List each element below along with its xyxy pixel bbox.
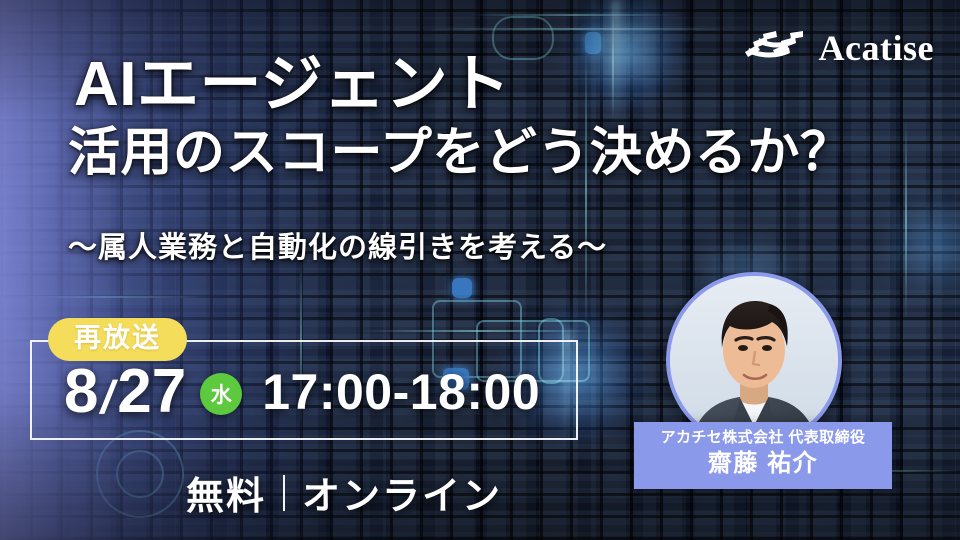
speaker-name: 齋藤 祐介	[644, 449, 882, 479]
speaker-name-plate: アカチセ株式会社 代表取締役 齋藤 祐介	[634, 422, 892, 489]
webinar-banner: Acatise AIエージェント 活用のスコープをどう決めるか？ 〜属人業務と自…	[0, 0, 960, 540]
headline-line-1: AIエージェント	[74, 52, 852, 119]
event-price: 無料	[186, 465, 266, 520]
subtitle: 〜属人業務と自動化の線引きを考える〜	[68, 224, 607, 266]
event-format: オンライン	[302, 465, 502, 520]
page-title: AIエージェント 活用のスコープをどう決めるか？	[74, 52, 852, 181]
schedule-day: 27	[117, 361, 186, 423]
headline-line-2: 活用のスコープをどう決めるか？	[68, 125, 852, 181]
schedule-month: 8	[64, 361, 98, 423]
schedule-time: 17:00-18:00	[262, 367, 540, 417]
event-info-separator	[283, 475, 285, 511]
speaker-title: アカチセ株式会社 代表取締役	[644, 429, 882, 447]
day-of-week-badge: 水	[200, 373, 242, 415]
rerun-badge: 再放送	[48, 318, 187, 361]
schedule-details: 8 / 27 水 17:00-18:00	[64, 360, 540, 424]
event-info-row: 無料 オンライン	[186, 465, 502, 520]
